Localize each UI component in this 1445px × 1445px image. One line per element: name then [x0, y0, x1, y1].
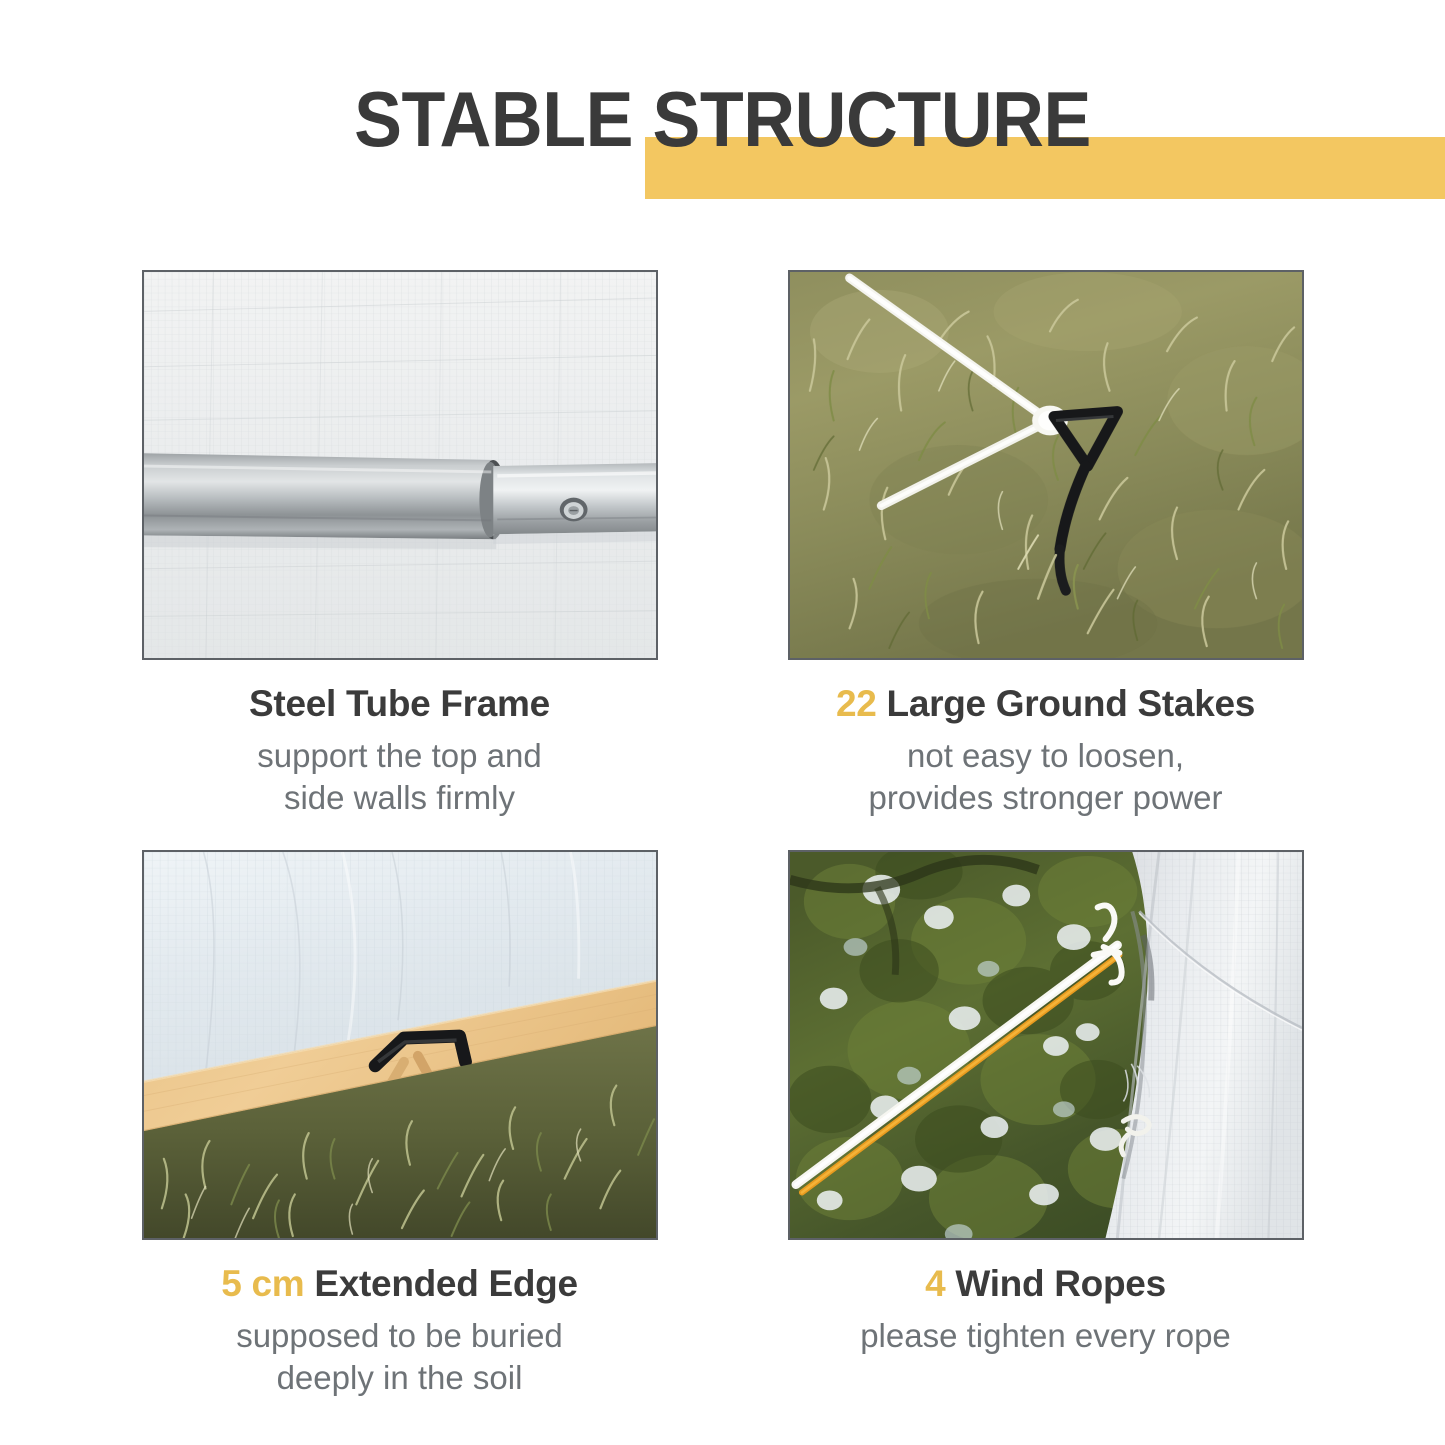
- wind-rope-photo: [788, 850, 1304, 1240]
- feature-card-ground-stakes: 22 Large Ground Stakes not easy to loose…: [736, 270, 1355, 819]
- caption-subtitle: supposed to be buried deeply in the soil: [90, 1315, 709, 1399]
- caption-number: 4: [925, 1263, 945, 1304]
- caption-subtitle-line: provides stronger power: [736, 777, 1355, 819]
- steel-tube-illustration: [144, 272, 656, 658]
- caption-title: 4 Wind Ropes: [736, 1262, 1355, 1306]
- extended-edge-photo: [142, 850, 658, 1240]
- caption-extended-edge: 5 cm Extended Edge supposed to be buried…: [90, 1262, 709, 1399]
- caption-title-text: Wind Ropes: [955, 1263, 1165, 1304]
- ground-stake-photo: [788, 270, 1304, 660]
- caption-title: 5 cm Extended Edge: [90, 1262, 709, 1306]
- feature-card-steel-tube-frame: Steel Tube Frame support the top and sid…: [90, 270, 709, 819]
- caption-number: 5 cm: [221, 1263, 304, 1304]
- caption-title-text: Steel Tube Frame: [249, 683, 550, 724]
- header: STABLE STRUCTURE: [0, 0, 1445, 232]
- caption-subtitle-line: please tighten every rope: [736, 1315, 1355, 1357]
- caption-title: Steel Tube Frame: [90, 682, 709, 726]
- caption-title: 22 Large Ground Stakes: [736, 682, 1355, 726]
- steel-tube-photo: [142, 270, 658, 660]
- feature-grid: Steel Tube Frame support the top and sid…: [0, 250, 1445, 1445]
- caption-subtitle-line: side walls firmly: [90, 777, 709, 819]
- extended-edge-illustration: [144, 852, 656, 1238]
- caption-ground-stakes: 22 Large Ground Stakes not easy to loose…: [736, 682, 1355, 819]
- caption-title-text: Large Ground Stakes: [887, 683, 1256, 724]
- caption-subtitle: please tighten every rope: [736, 1315, 1355, 1357]
- feature-card-extended-edge: 5 cm Extended Edge supposed to be buried…: [90, 850, 709, 1399]
- caption-subtitle-line: supposed to be buried: [90, 1315, 709, 1357]
- caption-title-text: Extended Edge: [314, 1263, 577, 1304]
- feature-card-wind-ropes: 4 Wind Ropes please tighten every rope: [736, 850, 1355, 1357]
- caption-subtitle-line: deeply in the soil: [90, 1357, 709, 1399]
- page-title: STABLE STRUCTURE: [58, 80, 1387, 158]
- caption-number: 22: [836, 683, 877, 724]
- caption-subtitle: support the top and side walls firmly: [90, 735, 709, 819]
- caption-subtitle-line: not easy to loosen,: [736, 735, 1355, 777]
- wind-rope-illustration: [790, 852, 1302, 1238]
- ground-stake-illustration: [790, 272, 1302, 658]
- caption-steel-tube-frame: Steel Tube Frame support the top and sid…: [90, 682, 709, 819]
- caption-subtitle-line: support the top and: [90, 735, 709, 777]
- caption-subtitle: not easy to loosen, provides stronger po…: [736, 735, 1355, 819]
- caption-wind-ropes: 4 Wind Ropes please tighten every rope: [736, 1262, 1355, 1357]
